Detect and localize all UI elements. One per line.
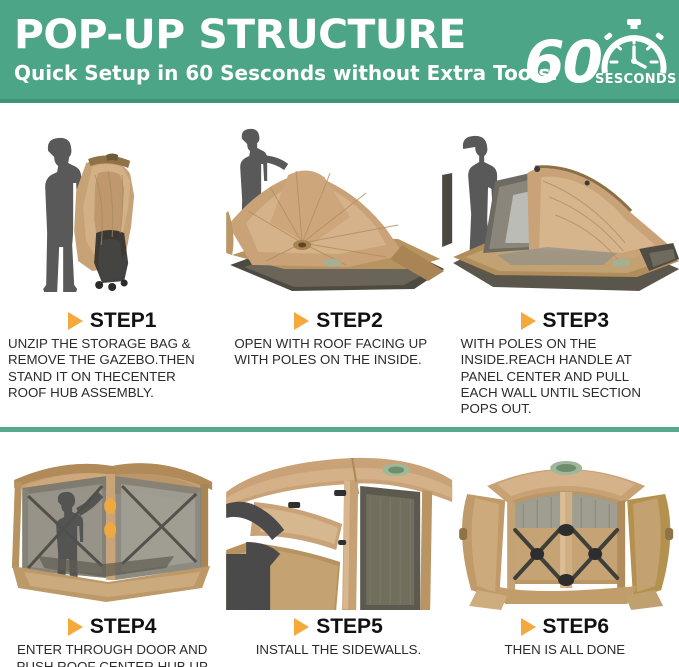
triangle-marker-icon [68,312,83,330]
page-subtitle: Quick Setup in 60 Sesconds without Extra… [14,60,558,86]
sixty-seconds-badge: 60 [524,17,673,91]
step-3-heading: STEP3 [461,309,669,333]
step-1-caption: STEP1 UNZIP THE STORAGE BAG & REMOVE THE… [0,305,226,401]
triangle-marker-icon [521,312,536,330]
triangle-marker-icon [68,618,83,636]
step-5-text: INSTALL THE SIDEWALLS. [234,642,442,658]
step-5-caption: STEP5 INSTALL THE SIDEWALLS. [226,611,452,658]
step-3-illustration [453,115,679,305]
step-1-text: UNZIP THE STORAGE BAG & REMOVE THE GAZEB… [8,336,216,401]
step-panel-3: STEP3 WITH POLES ON THE INSIDE.REACH HAN… [453,115,679,417]
badge-number: 60 [524,33,601,91]
step-4-heading: STEP4 [8,615,216,639]
badge-label: SESCONDS [595,72,673,87]
step-panel-1: STEP1 UNZIP THE STORAGE BAG & REMOVE THE… [0,115,226,417]
steps-row-1: STEP1 UNZIP THE STORAGE BAG & REMOVE THE… [0,103,679,432]
page-title: POP-UP STRUCTURE [14,14,569,56]
step-panel-5: STEP5 INSTALL THE SIDEWALLS. [226,446,452,667]
step-2-caption: STEP2 OPEN WITH ROOF FACING UP WITH POLE… [226,305,452,369]
step-panel-2: STEP2 OPEN WITH ROOF FACING UP WITH POLE… [226,115,452,417]
step-2-heading: STEP2 [234,309,442,333]
step-4-text: ENTER THROUGH DOOR AND PUSH ROOF CENTER … [8,642,216,667]
step-3-text: WITH POLES ON THE INSIDE.REACH HANDLE AT… [461,336,669,417]
triangle-marker-icon [294,618,309,636]
step-4-illustration [0,446,226,611]
step-4-label: STEP4 [90,615,157,639]
step-3-caption: STEP3 WITH POLES ON THE INSIDE.REACH HAN… [453,305,679,417]
step-6-text: THEN IS ALL DONE [461,642,669,658]
step-2-text: OPEN WITH ROOF FACING UP WITH POLES ON T… [234,336,442,369]
step-panel-6: STEP6 THEN IS ALL DONE [453,446,679,667]
step-5-label: STEP5 [316,615,383,639]
step-6-label: STEP6 [543,615,610,639]
step-1-illustration [0,115,226,305]
step-4-caption: STEP4 ENTER THROUGH DOOR AND PUSH ROOF C… [0,611,226,667]
stopwatch-icon: SESCONDS [595,17,673,91]
steps-row-2: STEP4 ENTER THROUGH DOOR AND PUSH ROOF C… [0,432,679,667]
step-1-heading: STEP1 [8,309,216,333]
step-5-illustration [226,446,452,611]
step-2-label: STEP2 [316,309,383,333]
step-6-illustration [453,446,679,611]
header-text-block: POP-UP STRUCTURE Quick Setup in 60 Sesco… [14,14,558,86]
step-1-label: STEP1 [90,309,157,333]
step-panel-4: STEP4 ENTER THROUGH DOOR AND PUSH ROOF C… [0,446,226,667]
step-5-heading: STEP5 [234,615,442,639]
triangle-marker-icon [521,618,536,636]
header-banner: POP-UP STRUCTURE Quick Setup in 60 Sesco… [0,0,679,103]
triangle-marker-icon [294,312,309,330]
step-2-illustration [226,115,452,305]
step-6-heading: STEP6 [461,615,669,639]
step-3-label: STEP3 [543,309,610,333]
step-6-caption: STEP6 THEN IS ALL DONE [453,611,679,658]
infographic-page: POP-UP STRUCTURE Quick Setup in 60 Sesco… [0,0,679,667]
